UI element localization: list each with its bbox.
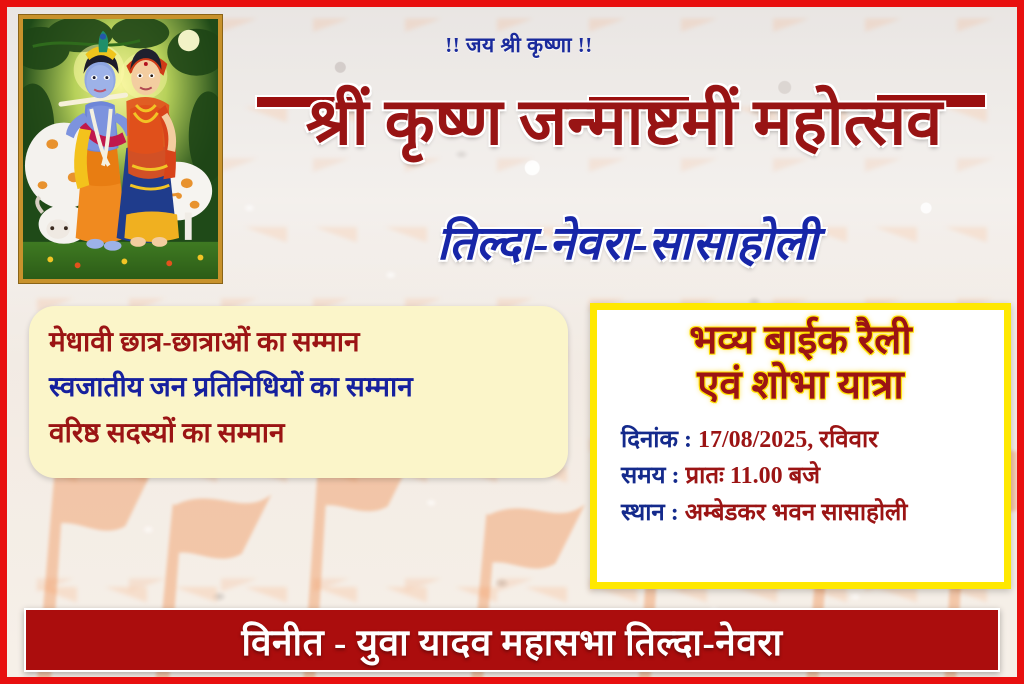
detail-row-venue: स्थान : अम्बेडकर भवन सासाहोली — [621, 495, 994, 531]
invocation-text: !! जय श्री कृष्णा !! — [239, 31, 799, 59]
honour-line-2: स्वजातीय जन प्रतिनिधियों का सम्मान — [49, 365, 550, 410]
detail-row-time: समय : प्रातः 11.00 बजे — [621, 458, 994, 494]
detail-label-venue: स्थान — [621, 500, 665, 526]
footer-organizer-text: विनीत - युवा यादव महासभा तिल्दा-नेवरा — [241, 615, 782, 666]
detail-value-venue: अम्बेडकर भवन सासाहोली — [685, 500, 908, 526]
rally-details-list: दिनांक : 17/08/2025, रविवार समय : प्रातः… — [607, 422, 994, 531]
detail-label-time: समय — [621, 463, 666, 489]
honour-line-1: मेधावी छात्र-छात्राओं का सम्मान — [49, 320, 550, 365]
detail-row-date: दिनांक : 17/08/2025, रविवार — [621, 422, 994, 458]
honour-line-3: वरिष्ठ सदस्यों का सम्मान — [49, 411, 550, 456]
page-subtitle: तिल्दा-नेवरा-सासाहोली — [247, 209, 1007, 273]
footer-bar: विनीत - युवा यादव महासभा तिल्दा-नेवरा — [24, 608, 1000, 672]
detail-value-time: प्रातः 11.00 बजे — [686, 463, 821, 489]
detail-separator-venue: : — [671, 500, 679, 526]
detail-separator-time: : — [672, 463, 680, 489]
rally-heading-line-1: भव्य बाईक रैली — [607, 318, 994, 363]
poster-canvas: !! जय श्री कृष्णा !! श्रीं कृष्ण जन्माष्… — [0, 0, 1024, 684]
detail-value-date: 17/08/2025, रविवार — [698, 427, 878, 453]
rally-info-box: भव्य बाईक रैली एवं शोभा यात्रा दिनांक : … — [590, 303, 1011, 589]
detail-separator-date: : — [684, 427, 692, 453]
page-title: श्रीं कृष्ण जन्माष्टमीं महोत्सव — [229, 90, 1019, 156]
honours-box: मेधावी छात्र-छात्राओं का सम्मान स्वजातीय… — [29, 306, 568, 478]
radha-krishna-image — [19, 15, 222, 283]
rally-heading-line-2: एवं शोभा यात्रा — [607, 363, 994, 408]
detail-label-date: दिनांक — [621, 427, 678, 453]
